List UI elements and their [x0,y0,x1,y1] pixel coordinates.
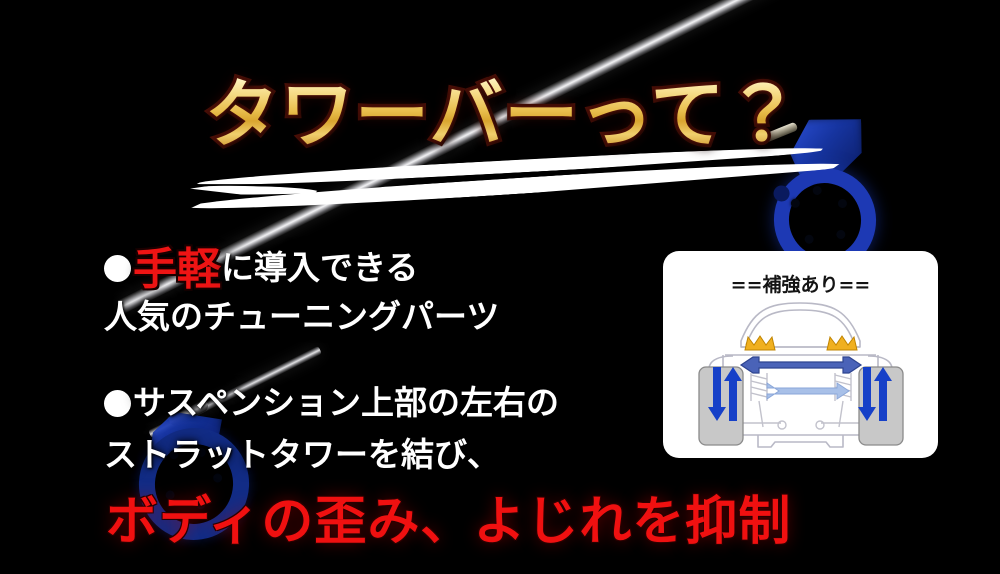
bolt-hole [836,229,847,240]
bullet-icon [104,390,131,417]
bolt-hole [804,234,815,245]
feature-line-1: 手軽に導入できる [104,248,418,292]
feature-line-1-rest: に導入できる [221,248,418,287]
bolt-hole [790,198,801,209]
bolt-hole [212,473,223,484]
car-front-view-diagram [663,295,938,458]
feature-highlight-tegaru: 手軽 [133,244,221,295]
feature-line-3: サスペンション上部の左右の [104,386,559,419]
diagram-title: ==補強あり== [663,270,938,297]
bolt-hole [837,198,848,209]
reinforcement-diagram-panel: ==補強あり== [663,251,938,458]
lateral-force-arrow [767,383,849,399]
page-title: タワーバーって？ [205,78,801,152]
bullet-icon [104,255,131,282]
tagline: ボディの歪み、よじれを抑制 [106,496,791,548]
feature-line-4: ストラットタワーを結び、 [104,438,500,471]
feature-line-3-text: サスペンション上部の左右の [133,383,559,422]
promo-banner: タワーバーって？ タワーバーって？ 手軽に導入できる 人気のチューニングパーツ … [0,0,1000,574]
tower-bar-arrow [741,357,861,373]
feature-line-2: 人気のチューニングパーツ [104,300,499,333]
bolt-hole [812,185,823,196]
